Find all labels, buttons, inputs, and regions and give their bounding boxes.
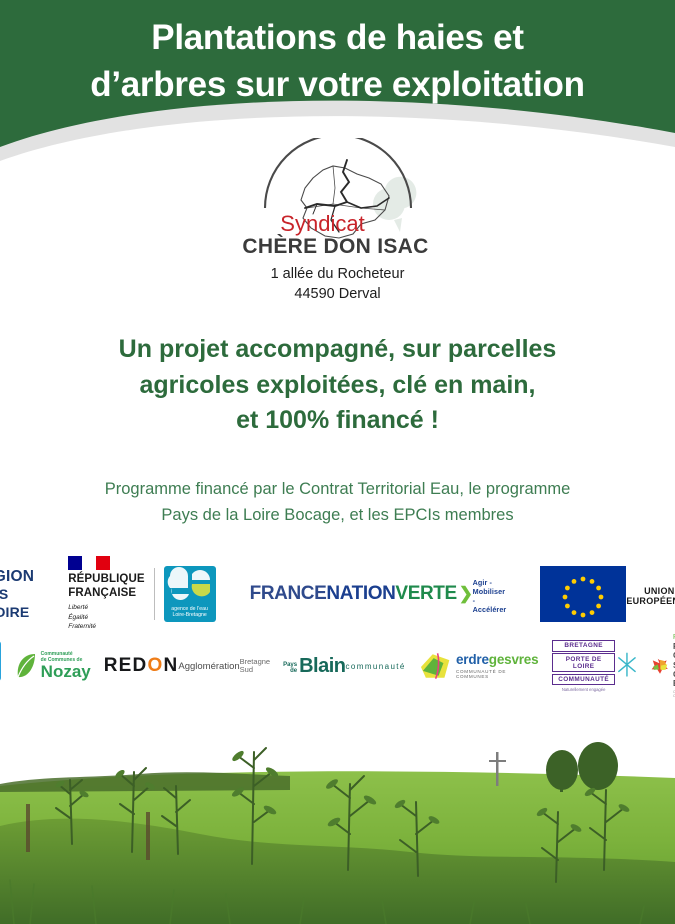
bpl-sub: Naturellement engagée — [552, 687, 615, 692]
redon-sub1: Agglomération — [178, 662, 239, 672]
region-line1: RÉGION — [0, 569, 34, 585]
funding-line1: Programme financé par le Contrat Territo… — [0, 477, 675, 503]
rf-line1: RÉPUBLIQUE — [68, 573, 144, 587]
eu-flag-icon — [540, 566, 626, 622]
page-title: Plantations de haies et d’arbres sur vot… — [0, 14, 675, 109]
logo-region-pays-de-la-loire: RÉGION PAYS DELA LOIRE — [0, 569, 34, 618]
erdre-part1: erdre — [456, 652, 489, 667]
erdre-gesvres-leaf-icon — [419, 651, 452, 681]
region-line2: PAYS — [0, 587, 34, 601]
blain-prefix: Pays de — [283, 662, 297, 675]
field-illustration — [0, 694, 675, 924]
redon-sub2: Bretagne Sud — [240, 658, 270, 674]
logo-word-name: CHÈRE DON ISAC — [0, 235, 675, 259]
logo-republique-francaise-et-agence-eau: RÉPUBLIQUE FRANÇAISE Liberté Égalité Fra… — [68, 556, 215, 631]
tagline-line1: Un projet accompagné, sur parcelles — [0, 332, 675, 368]
tagline-line3: et 100% financé ! — [0, 403, 675, 439]
page-title-line1: Plantations de haies et — [0, 14, 675, 61]
logo-france-nation-verte: FRANCE NATION VERTE ❯ Agir - Mobiliser -… — [250, 574, 507, 614]
redon-main-o: O — [147, 655, 163, 676]
bpl-line1: BRETAGNE — [552, 640, 615, 652]
redon-main-b: N — [163, 655, 178, 676]
nozay-leaf-icon — [14, 651, 38, 681]
organization-logo-block: Syndicat CHÈRE DON ISAC 1 allée du Roche… — [0, 138, 675, 304]
rf-motto3: Fraternité — [68, 622, 144, 631]
address-city: 44590 Derval — [0, 285, 675, 305]
bpl-star-burst-icon — [617, 651, 637, 681]
chateaubriant-smiley-icon: Châteaubriant Derval — [0, 641, 1, 681]
region-line3: LOIRE — [0, 605, 29, 619]
organization-name: Syndicat CHÈRE DON ISAC — [0, 212, 675, 259]
logo-redon-agglomeration: REDON Agglomération Bretagne Sud — [104, 657, 270, 675]
funding-line2: Pays de la Loire Bocage, et les EPCIs me… — [0, 503, 675, 529]
rf-motto2: Égalité — [68, 613, 144, 622]
partner-logos-row-1: RÉGION PAYS DELA LOIRE RÉPUBLIQUE FRANÇA… — [0, 556, 675, 632]
fnv-line2: NATION — [326, 585, 395, 603]
chevron-right-icon: ❯ — [459, 586, 473, 602]
agence-caption2: Loire-Bretagne — [164, 612, 216, 619]
blain-name: Blain — [299, 657, 345, 675]
fnv-line1: FRANCE — [250, 585, 327, 603]
main-tagline: Un projet accompagné, sur parcelles agri… — [0, 332, 675, 439]
erdre-sub: COMMUNAUTÉ DE COMMUNES — [456, 669, 539, 679]
fnv-subtitle: Agir - Mobiliser - Accélérer — [473, 578, 507, 614]
blain-sub: communauté — [346, 662, 406, 671]
eu-name: UNION EUROPÉENNE — [626, 586, 675, 606]
page-title-line2: d’arbres sur votre exploitation — [0, 61, 675, 108]
nozay-name: Nozay — [41, 664, 91, 680]
erdre-part2: gesvres — [489, 652, 539, 667]
bpl-line3: COMMUNAUTÉ — [552, 674, 615, 686]
logo-agence-de-leau: agence de l’eau Loire-Bretagne — [164, 566, 216, 622]
rf-line2: FRANÇAISE — [68, 587, 144, 601]
french-flag-icon — [68, 556, 110, 570]
logo-chateaubriant-derval: Châteaubriant Derval COMMUNAUTÉ DE COMMU… — [0, 641, 1, 692]
hedge-planting-photo — [0, 694, 675, 924]
address-street: 1 allée du Rocheteur — [0, 265, 675, 285]
organization-address: 1 allée du Rocheteur 44590 Derval — [0, 265, 675, 304]
logo-pont-chateau-saint-gildas-des-bois: Pays de Pont-Château Saint-Gildas-des-Bo… — [650, 634, 675, 698]
partner-logos-row-2: Châteaubriant Derval COMMUNAUTÉ DE COMMU… — [0, 638, 675, 694]
funding-note: Programme financé par le Contrat Territo… — [0, 477, 675, 528]
cd-name2: Derval — [0, 673, 1, 679]
logo-union-europeenne: UNION EUROPÉENNE FONDS EUROPÉEN AGRICOLE… — [540, 566, 675, 622]
logo-word-syndicat: Syndicat — [0, 212, 675, 235]
rf-motto1: Liberté — [68, 603, 144, 612]
fnv-line3: VERTE — [395, 585, 456, 603]
logo-divider — [154, 568, 155, 620]
tagline-line2: agricoles exploitées, clé en main, — [0, 368, 675, 404]
ptc-star-icon — [650, 651, 669, 681]
logo-bretagne-porte-de-loire: BRETAGNE PORTE DE LOIRE COMMUNAUTÉ Natur… — [552, 640, 637, 692]
logo-pays-de-blain-communaute: Pays de Blain communauté — [283, 657, 406, 675]
logo-erdre-et-gesvres: erdregesvres COMMUNAUTÉ DE COMMUNES — [419, 651, 539, 681]
redon-main-a: RED — [104, 655, 148, 676]
logo-communaute-communes-nozay: Communauté de Communes de Nozay — [14, 651, 91, 681]
bpl-line2: PORTE DE LOIRE — [552, 653, 615, 672]
agence-eau-monogram-icon — [164, 566, 216, 608]
cd-sub: COMMUNAUTÉ DE COMMUNES — [0, 682, 1, 692]
